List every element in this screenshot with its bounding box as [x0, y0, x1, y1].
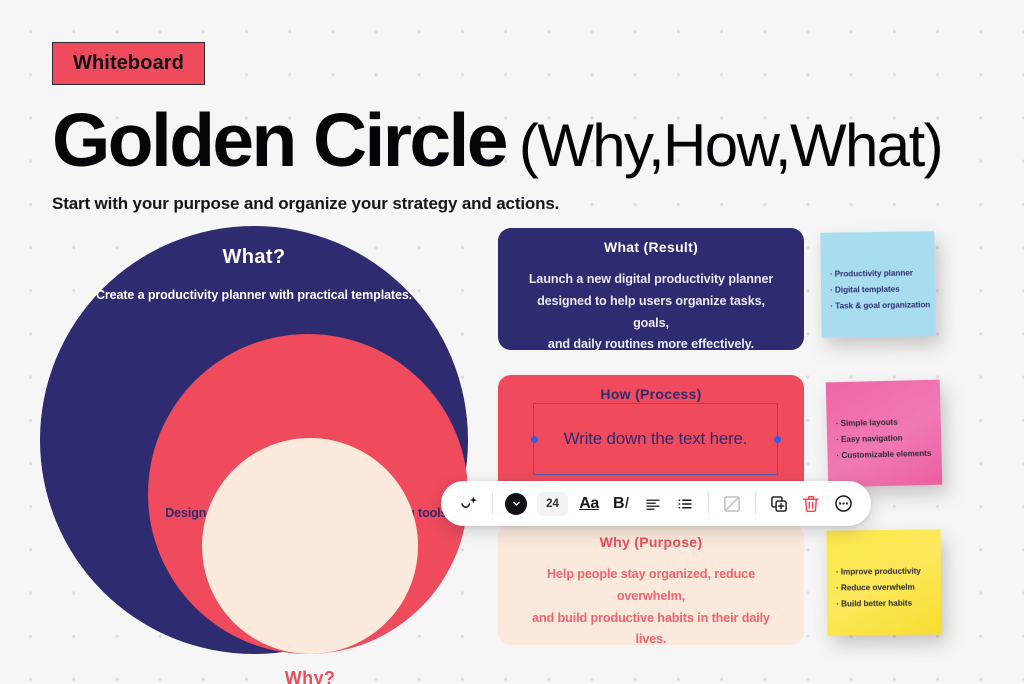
how-textbox-value[interactable]: Write down the text here. — [564, 429, 748, 449]
circle-why-label: Why? — [202, 668, 418, 684]
whiteboard-canvas[interactable]: Whiteboard Golden Circle(Why,How,What) S… — [0, 0, 1024, 684]
card-what-line-1: Launch a new digital productivity planne… — [520, 269, 782, 291]
card-what-title: What (Result) — [498, 239, 804, 255]
card-what-body: Launch a new digital productivity planne… — [498, 269, 804, 356]
header: Whiteboard Golden Circle(Why,How,What) S… — [52, 42, 982, 214]
card-why-line-2: and build productive habits in their dai… — [520, 608, 782, 652]
sticky-note-yellow[interactable]: · Improve productivity · Reduce overwhel… — [826, 529, 941, 635]
font-style-label: Aa — [579, 496, 598, 512]
bold-label: B — [613, 496, 625, 512]
bullet-list-icon[interactable] — [670, 487, 700, 521]
sticky-yellow-item-2: · Reduce overwhelm — [836, 579, 941, 596]
whiteboard-badge: Whiteboard — [52, 42, 205, 85]
card-what-line-2: designed to help users organize tasks, g… — [520, 291, 782, 335]
how-text-editor-selection[interactable]: Write down the text here. — [533, 403, 778, 475]
no-fill-icon[interactable] — [717, 487, 747, 521]
color-swatch[interactable] — [505, 493, 527, 515]
duplicate-icon[interactable] — [764, 487, 794, 521]
trash-icon[interactable] — [796, 487, 826, 521]
toolbar-divider-3 — [755, 493, 756, 514]
sticky-blue-item-2: · Digital templates — [830, 281, 935, 298]
card-why-purpose[interactable]: Why (Purpose) Help people stay organized… — [498, 523, 804, 645]
page-title-main: Golden Circle — [52, 98, 506, 182]
text-format-toolbar[interactable]: 24 Aa BI — [441, 481, 871, 526]
toolbar-divider-2 — [708, 493, 709, 514]
sticky-pink-item-3: · Customizable elements — [836, 445, 941, 463]
toolbar-divider-1 — [492, 493, 493, 514]
page-title: Golden Circle(Why,How,What) — [52, 103, 982, 178]
card-why-line-1: Help people stay organized, reduce overw… — [520, 564, 782, 608]
card-why-body: Help people stay organized, reduce overw… — [498, 564, 804, 651]
bold-italic-button[interactable]: BI — [606, 487, 636, 521]
sticky-yellow-item-1: · Improve productivity — [836, 563, 941, 580]
sticky-blue-item-1: · Productivity planner — [830, 265, 935, 282]
card-what-result[interactable]: What (Result) Launch a new digital produ… — [498, 228, 804, 350]
font-size-input[interactable]: 24 — [533, 487, 572, 521]
sticky-note-pink[interactable]: · Simple layouts · Easy navigation · Cus… — [826, 380, 943, 488]
card-how-title: How (Process) — [498, 386, 804, 402]
selection-handle-left[interactable] — [531, 436, 538, 443]
more-options-icon[interactable] — [828, 487, 858, 521]
page-title-sub: (Why,How,What) — [519, 112, 942, 179]
sticky-yellow-item-3: · Build better habits — [836, 595, 941, 612]
circle-why[interactable]: Why? Help users stay organized and manag… — [202, 438, 418, 654]
sticky-blue-item-3: · Task & goal organization — [830, 297, 935, 314]
circle-what-label: What? — [40, 246, 468, 269]
card-how-process[interactable]: How (Process) Write down the text here. — [498, 375, 804, 497]
italic-label: I — [625, 496, 629, 512]
page-subtitle: Start with your purpose and organize you… — [52, 194, 982, 214]
align-left-icon[interactable] — [638, 487, 668, 521]
circle-what-body: Create a productivity planner with pract… — [40, 286, 468, 305]
sparkle-magic-icon[interactable] — [454, 487, 484, 521]
card-what-line-3: and daily routines more effectively. — [520, 334, 782, 356]
text-color-button[interactable] — [501, 487, 531, 521]
sticky-note-blue[interactable]: · Productivity planner · Digital templat… — [820, 231, 935, 338]
font-size-value[interactable]: 24 — [537, 492, 568, 516]
selection-handle-right[interactable] — [774, 436, 781, 443]
chevron-down-icon — [512, 499, 521, 508]
card-why-title: Why (Purpose) — [498, 534, 804, 550]
golden-circle-diagram[interactable]: What? Create a productivity planner with… — [40, 226, 480, 666]
font-family-button[interactable]: Aa — [574, 487, 604, 521]
